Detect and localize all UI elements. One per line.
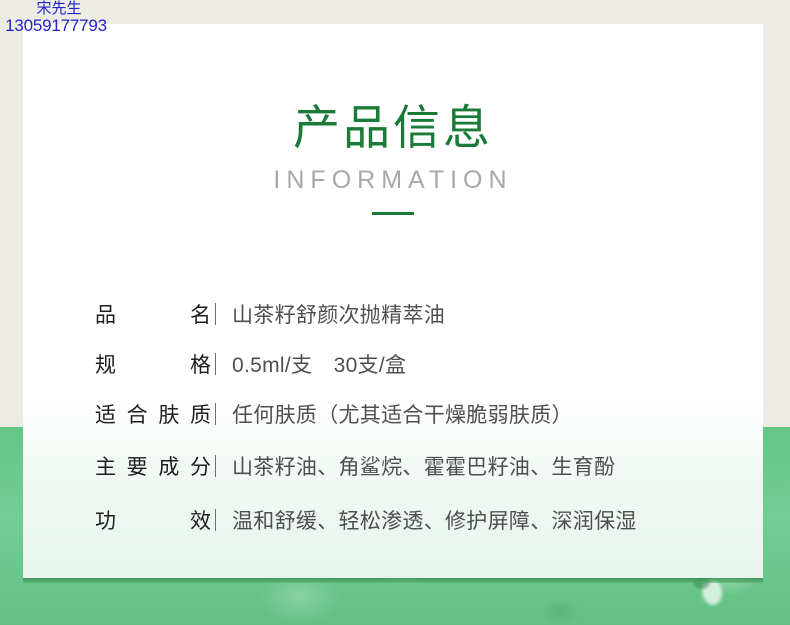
- watermark-phone: 13059177793: [0, 17, 112, 35]
- table-row: 功效 温和舒缓、轻松渗透、修护屏障、深润保湿: [95, 493, 735, 547]
- page-margin-right: [763, 0, 790, 427]
- spec-divider: [215, 455, 216, 477]
- page-title: 产品信息: [23, 104, 763, 151]
- seller-contact-watermark: 宋先生 13059177793: [0, 1, 112, 35]
- spec-value: 任何肤质（尤其适合干燥脆弱肤质）: [232, 399, 735, 429]
- product-spec-table: 品名 山茶籽舒颜次抛精萃油 规格 0.5ml/支 30支/盒 适合肤质 任何肤质…: [95, 289, 735, 547]
- spec-value: 0.5ml/支 30支/盒: [232, 349, 735, 379]
- card-bottom-edge: [23, 578, 763, 583]
- spec-value: 山茶籽舒颜次抛精萃油: [232, 299, 735, 329]
- table-row: 适合肤质 任何肤质（尤其适合干燥脆弱肤质）: [95, 389, 735, 439]
- spec-value: 山茶籽油、角鲨烷、霍霍巴籽油、生育酚: [232, 451, 735, 481]
- spec-value: 温和舒缓、轻松渗透、修护屏障、深润保湿: [232, 505, 735, 535]
- content-card: 产品信息 INFORMATION 品名 山茶籽舒颜次抛精萃油 规格 0.5ml/…: [23, 24, 763, 578]
- spec-label: 品名: [95, 299, 213, 329]
- page-header: 产品信息 INFORMATION: [23, 104, 763, 215]
- title-divider-rule: [372, 212, 414, 215]
- product-info-page: 产品信息 INFORMATION 品名 山茶籽舒颜次抛精萃油 规格 0.5ml/…: [0, 0, 790, 625]
- spec-divider: [215, 509, 216, 531]
- spec-label: 规格: [95, 349, 213, 379]
- spec-divider: [215, 353, 216, 375]
- page-margin-top: [0, 0, 790, 24]
- table-row: 品名 山茶籽舒颜次抛精萃油: [95, 289, 735, 339]
- spec-divider: [215, 403, 216, 425]
- table-row: 规格 0.5ml/支 30支/盒: [95, 339, 735, 389]
- spec-label: 功效: [95, 505, 213, 535]
- spec-divider: [215, 303, 216, 325]
- page-margin-left: [0, 0, 23, 427]
- spec-label: 主要成分: [95, 451, 213, 481]
- table-row: 主要成分 山茶籽油、角鲨烷、霍霍巴籽油、生育酚: [95, 439, 735, 493]
- page-subtitle: INFORMATION: [23, 168, 763, 193]
- watermark-name: 宋先生: [0, 1, 112, 17]
- spec-label: 适合肤质: [95, 399, 213, 429]
